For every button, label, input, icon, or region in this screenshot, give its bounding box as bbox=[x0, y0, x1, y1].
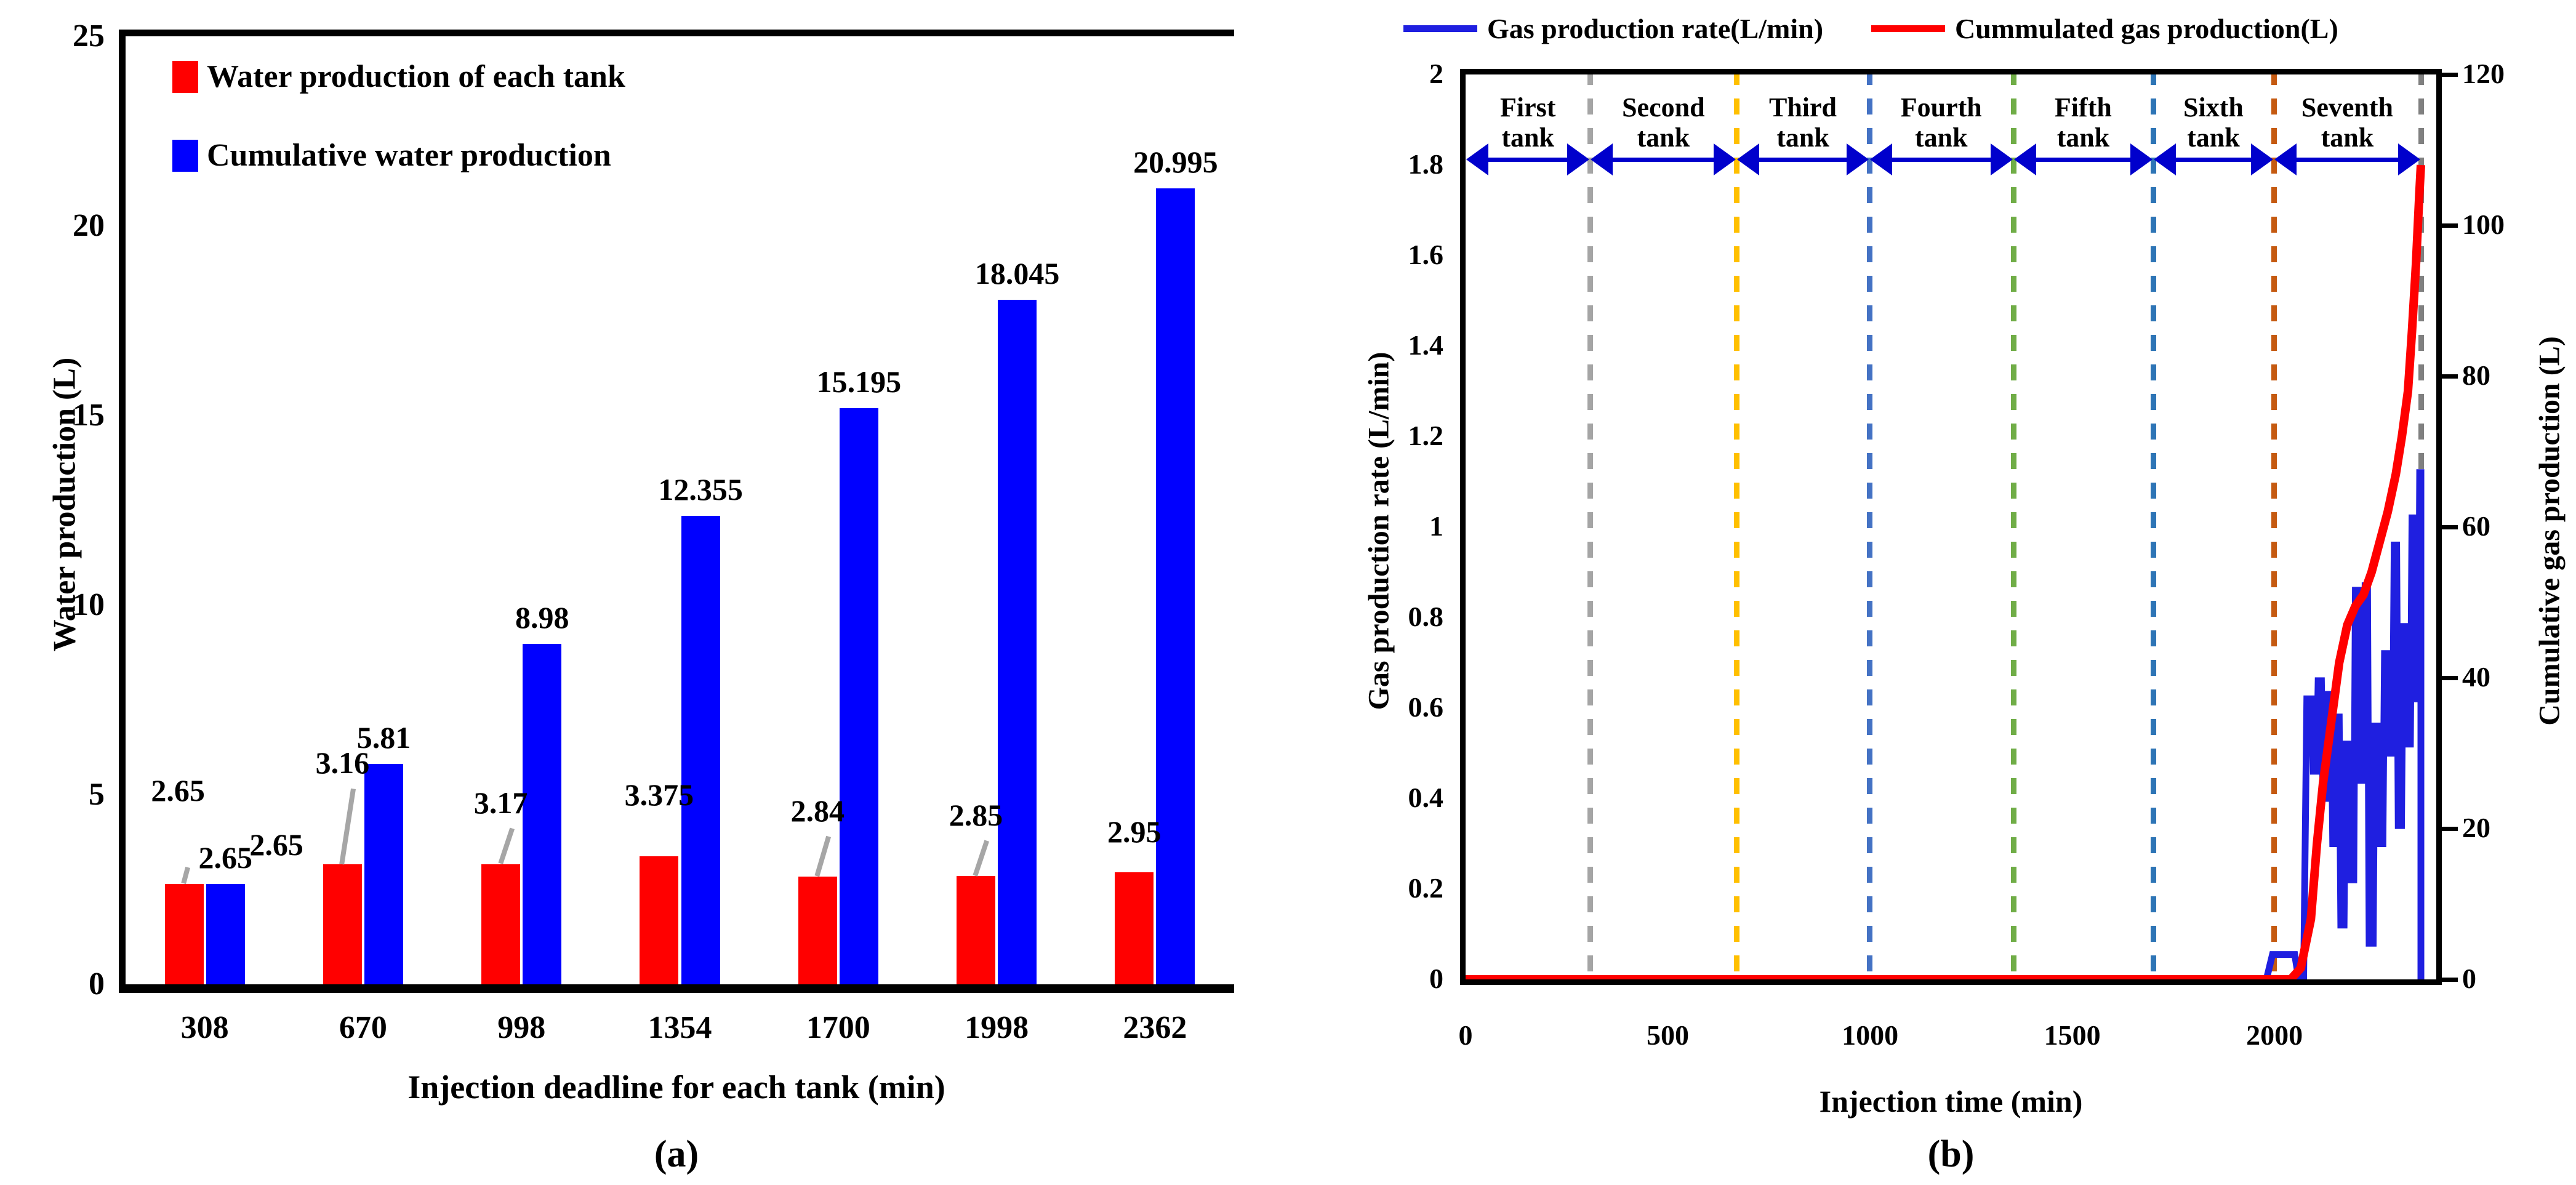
panel-b-right-tickmark-80 bbox=[2442, 374, 2458, 379]
legend-label-cumulative-water-production: Cumulative water production bbox=[207, 137, 611, 174]
bar-value-label-cumulative-2362: 20.995 bbox=[1096, 144, 1256, 180]
panel-b-legend-item-cumulative-gas: Cummulated gas production(L) bbox=[1871, 12, 2338, 45]
bar-value-label-water-production-1354: 3.375 bbox=[573, 777, 745, 813]
panel-a-x-tick-1998: 1998 bbox=[904, 1010, 1089, 1046]
legend-line-blue bbox=[1403, 25, 1477, 32]
panel-a-x-tick-670: 670 bbox=[271, 1010, 455, 1046]
legend-line-red bbox=[1871, 25, 1945, 32]
legend-item-cumulative-water-production: Cumulative water production bbox=[172, 137, 611, 174]
bar-water-production-670 bbox=[323, 864, 362, 984]
panel-a-caption: (a) bbox=[119, 1133, 1234, 1176]
legend-label-water-production-each-tank: Water production of each tank bbox=[207, 58, 625, 95]
bar-water-production-1700 bbox=[798, 877, 837, 984]
bar-value-label-cumulative-1998: 18.045 bbox=[937, 255, 1097, 291]
panel-a-x-axis-title: Injection deadline for each tank (min) bbox=[119, 1068, 1234, 1106]
bar-value-label-cumulative-1700: 15.195 bbox=[779, 364, 939, 400]
legend-swatch-blue bbox=[172, 140, 198, 172]
panel-a-x-tick-998: 998 bbox=[429, 1010, 614, 1046]
panel-b-gas-production-chart: Gas production rate(L/min) Cummulated ga… bbox=[1293, 0, 2576, 1185]
panel-b-right-y-axis-title: Cumulative gas production (L) bbox=[2533, 254, 2567, 808]
legend-label-cummulated-gas-production: Cummulated gas production(L) bbox=[1955, 12, 2338, 45]
bar-cumulative-water-308 bbox=[206, 884, 245, 984]
bar-cumulative-water-1998 bbox=[998, 300, 1037, 984]
bar-value-label-cumulative-1354: 12.355 bbox=[620, 472, 780, 507]
panel-b-x-tick-500: 500 bbox=[1594, 1019, 1742, 1051]
panel-b-right-tickmark-40 bbox=[2442, 676, 2458, 680]
panel-b-legend-item-gas-rate: Gas production rate(L/min) bbox=[1403, 12, 1823, 45]
panel-b-caption: (b) bbox=[1460, 1133, 2442, 1176]
bar-cumulative-water-1700 bbox=[840, 408, 878, 984]
panel-a-x-tick-1700: 1700 bbox=[746, 1010, 931, 1046]
panel-a-water-production-chart: 0510152025 Water production (L) 2.655.81… bbox=[0, 0, 1293, 1185]
bar-value-label-water-production-670: 3.16 bbox=[256, 745, 428, 781]
panel-a-x-tick-308: 308 bbox=[113, 1010, 297, 1046]
bar-value-label-water-production-308: 2.65 bbox=[92, 773, 264, 808]
panel-b-right-y-tick-20: 20 bbox=[2462, 811, 2554, 844]
panel-b-right-y-tick-100: 100 bbox=[2462, 208, 2554, 241]
bar-water-production-2362 bbox=[1115, 872, 1154, 984]
panel-b-right-tickmark-120 bbox=[2442, 73, 2458, 77]
figure-root: 0510152025 Water production (L) 2.655.81… bbox=[0, 0, 2576, 1185]
legend-swatch-red bbox=[172, 61, 198, 93]
panel-b-left-y-tick-0.2: 0.2 bbox=[1330, 872, 1443, 904]
panel-a-y-tick-0: 0 bbox=[25, 966, 105, 1002]
series-line-cummulated-gas-production bbox=[1466, 165, 2421, 979]
panel-b-right-tickmark-100 bbox=[2442, 223, 2458, 228]
bar-value-label-water-production-1998: 2.85 bbox=[889, 797, 1062, 833]
panel-b-left-y-axis-title: Gas production rate (L/min) bbox=[1362, 254, 1396, 808]
legend-item-water-production-each-tank: Water production of each tank bbox=[172, 58, 625, 95]
panel-a-y-tick-25: 25 bbox=[25, 18, 105, 54]
panel-a-x-tick-2362: 2362 bbox=[1062, 1010, 1247, 1046]
panel-b-right-tickmark-20 bbox=[2442, 827, 2458, 831]
panel-b-left-y-tick-2: 2 bbox=[1330, 57, 1443, 90]
bar-value-label-cumulative-998: 8.98 bbox=[462, 600, 622, 635]
bar-value-label-water-production-1700: 2.84 bbox=[731, 793, 904, 829]
series-line-gas-production-rate bbox=[1466, 473, 2421, 979]
panel-b-series-layer: FirsttankSecondtankThirdtankFourthtankFi… bbox=[1460, 69, 2442, 985]
panel-b-x-tick-2000: 2000 bbox=[2201, 1019, 2348, 1051]
panel-b-x-tick-1000: 1000 bbox=[1796, 1019, 1944, 1051]
panel-b-series-svg bbox=[1460, 69, 2442, 985]
panel-b-left-y-tick-0: 0 bbox=[1330, 962, 1443, 995]
panel-b-right-tickmark-0 bbox=[2442, 978, 2458, 982]
legend-label-gas-production-rate: Gas production rate(L/min) bbox=[1487, 12, 1823, 45]
bar-value-label-water-production-2362: 2.95 bbox=[1048, 814, 1221, 850]
panel-b-x-tick-1500: 1500 bbox=[1999, 1019, 2146, 1051]
panel-b-plot-area: FirsttankSecondtankThirdtankFourthtankFi… bbox=[1460, 69, 2442, 985]
bar-value-callout-water-production-308: 2.65 bbox=[190, 827, 363, 862]
panel-b-x-axis-title: Injection time (min) bbox=[1460, 1083, 2442, 1119]
bar-cumulative-water-670 bbox=[364, 764, 403, 984]
panel-b-x-tick-0: 0 bbox=[1392, 1019, 1539, 1051]
bar-cumulative-water-1354 bbox=[681, 516, 720, 984]
bar-value-label-water-production-998: 3.17 bbox=[415, 785, 587, 821]
bar-water-production-998 bbox=[481, 864, 520, 984]
bar-water-production-1998 bbox=[957, 876, 995, 984]
bar-water-production-1354 bbox=[640, 856, 678, 984]
panel-a-x-tick-1354: 1354 bbox=[588, 1010, 772, 1046]
panel-a-y-axis-title: Water production (L) bbox=[47, 289, 83, 720]
panel-b-right-y-tick-0: 0 bbox=[2462, 962, 2554, 995]
panel-a-y-tick-20: 20 bbox=[25, 207, 105, 244]
panel-b-right-y-tick-120: 120 bbox=[2462, 57, 2554, 90]
panel-b-right-tickmark-60 bbox=[2442, 525, 2458, 529]
panel-b-left-y-tick-1.8: 1.8 bbox=[1330, 148, 1443, 180]
bar-cumulative-water-2362 bbox=[1156, 188, 1195, 984]
bar-water-production-308 bbox=[165, 884, 204, 984]
